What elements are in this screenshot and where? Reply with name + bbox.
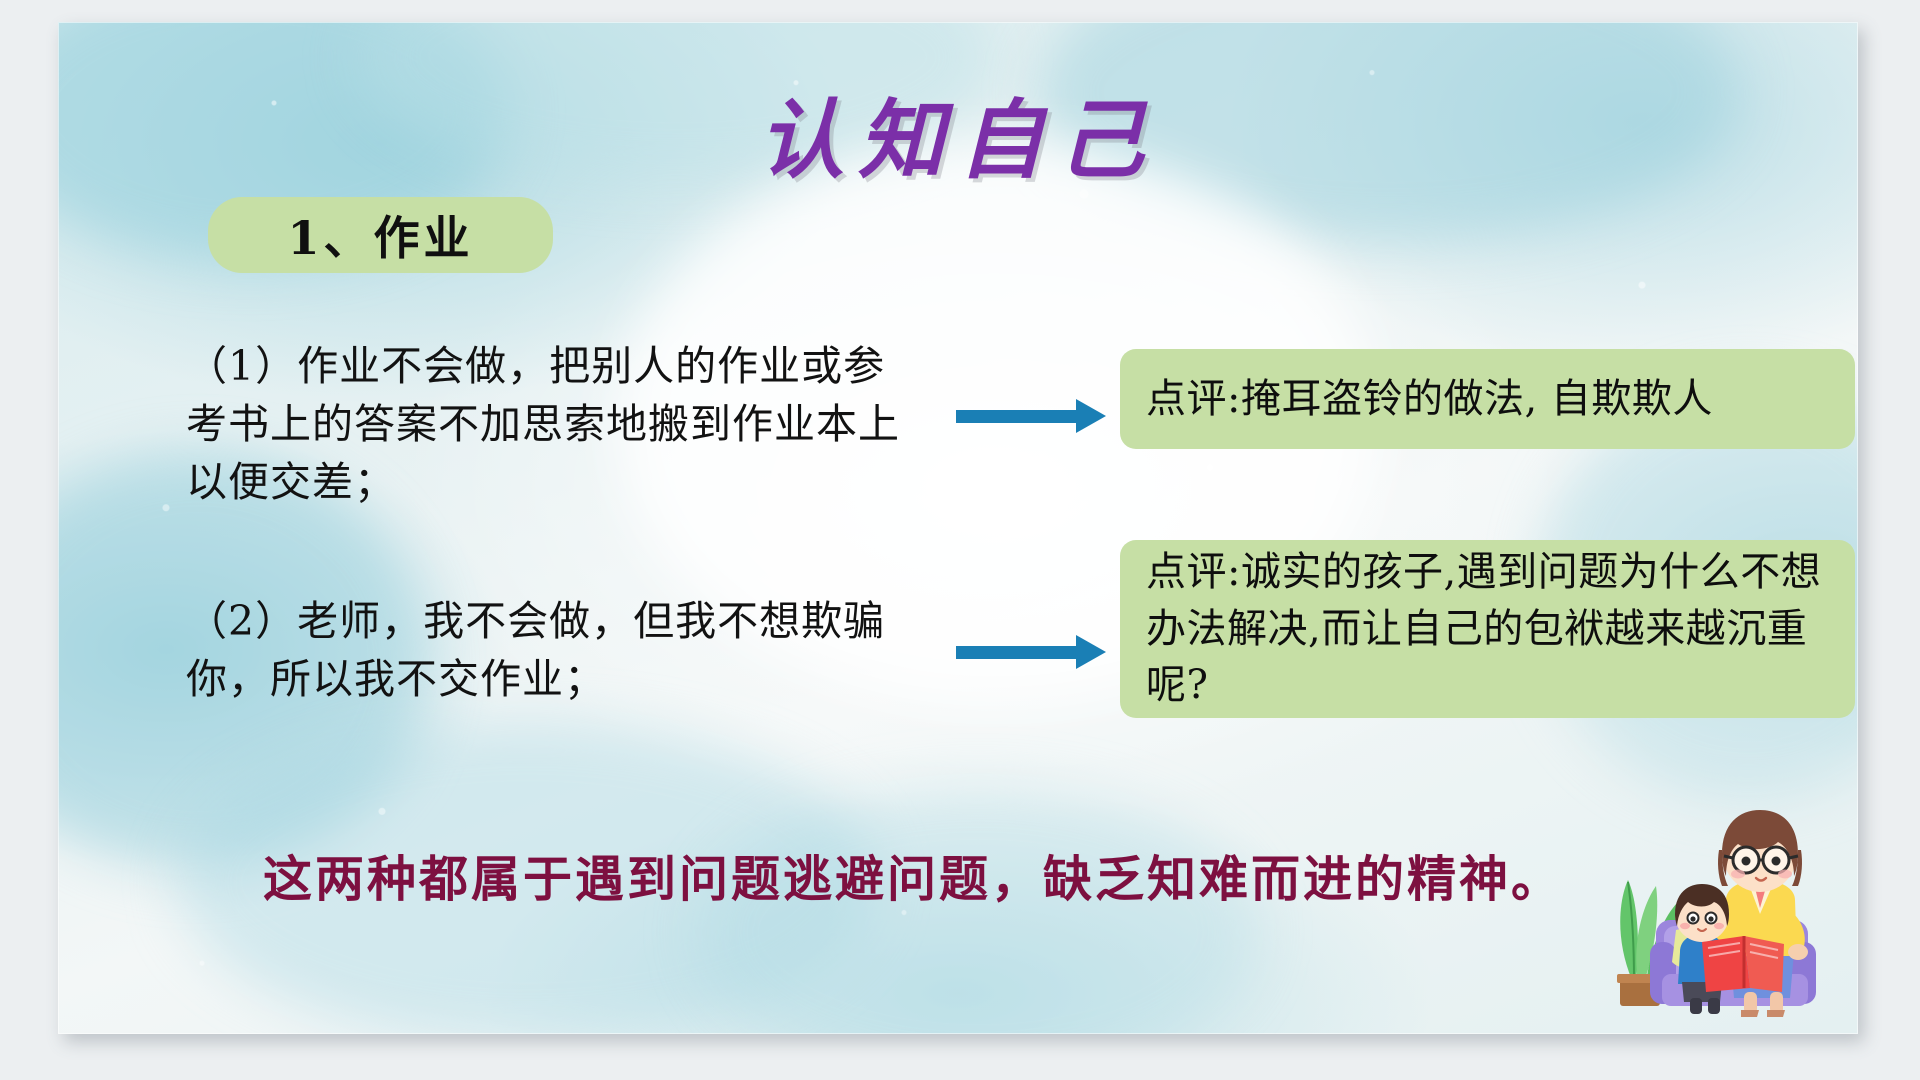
conclusion-text: 这两种都属于遇到问题逃避问题，缺乏知难而进的精神。	[148, 840, 1678, 911]
arrow-shaft	[956, 410, 1078, 423]
right-arrow-icon	[956, 399, 1108, 433]
page-title: 认知自己	[58, 70, 1858, 195]
red-book-icon	[1702, 936, 1784, 992]
arrow-head	[1076, 399, 1106, 433]
arrow-shaft	[956, 646, 1078, 659]
arrow-head	[1076, 635, 1106, 669]
section-badge: 1、作业	[208, 197, 553, 273]
page-canvas: 认知自己 1、作业 （1）作业不会做，把别人的作业或参考书上的答案不加思索地搬到…	[0, 0, 1920, 1080]
item-2-comment-card: 点评:诚实的孩子,遇到问题为什么不想办法解决,而让自己的包袱越来越沉重呢?	[1120, 540, 1855, 718]
right-arrow-icon	[956, 635, 1108, 669]
item-2-text: （2）老师，我不会做，但我不想欺骗你，所以我不交作业；	[186, 592, 926, 708]
item-1-text: （1）作业不会做，把别人的作业或参考书上的答案不加思索地搬到作业本上以便交差；	[186, 337, 926, 512]
section-badge-label: 1、作业	[287, 202, 473, 268]
slide: 认知自己 1、作业 （1）作业不会做，把别人的作业或参考书上的答案不加思索地搬到…	[58, 22, 1858, 1034]
item-1-comment-text: 点评:掩耳盗铃的做法, 自欺欺人	[1146, 371, 1713, 428]
item-1-comment-card: 点评:掩耳盗铃的做法, 自欺欺人	[1120, 349, 1855, 449]
illustration-teacher-reading-with-child	[1598, 802, 1828, 1022]
item-2-comment-text: 点评:诚实的孩子,遇到问题为什么不想办法解决,而让自己的包袱越来越沉重呢?	[1146, 544, 1829, 714]
